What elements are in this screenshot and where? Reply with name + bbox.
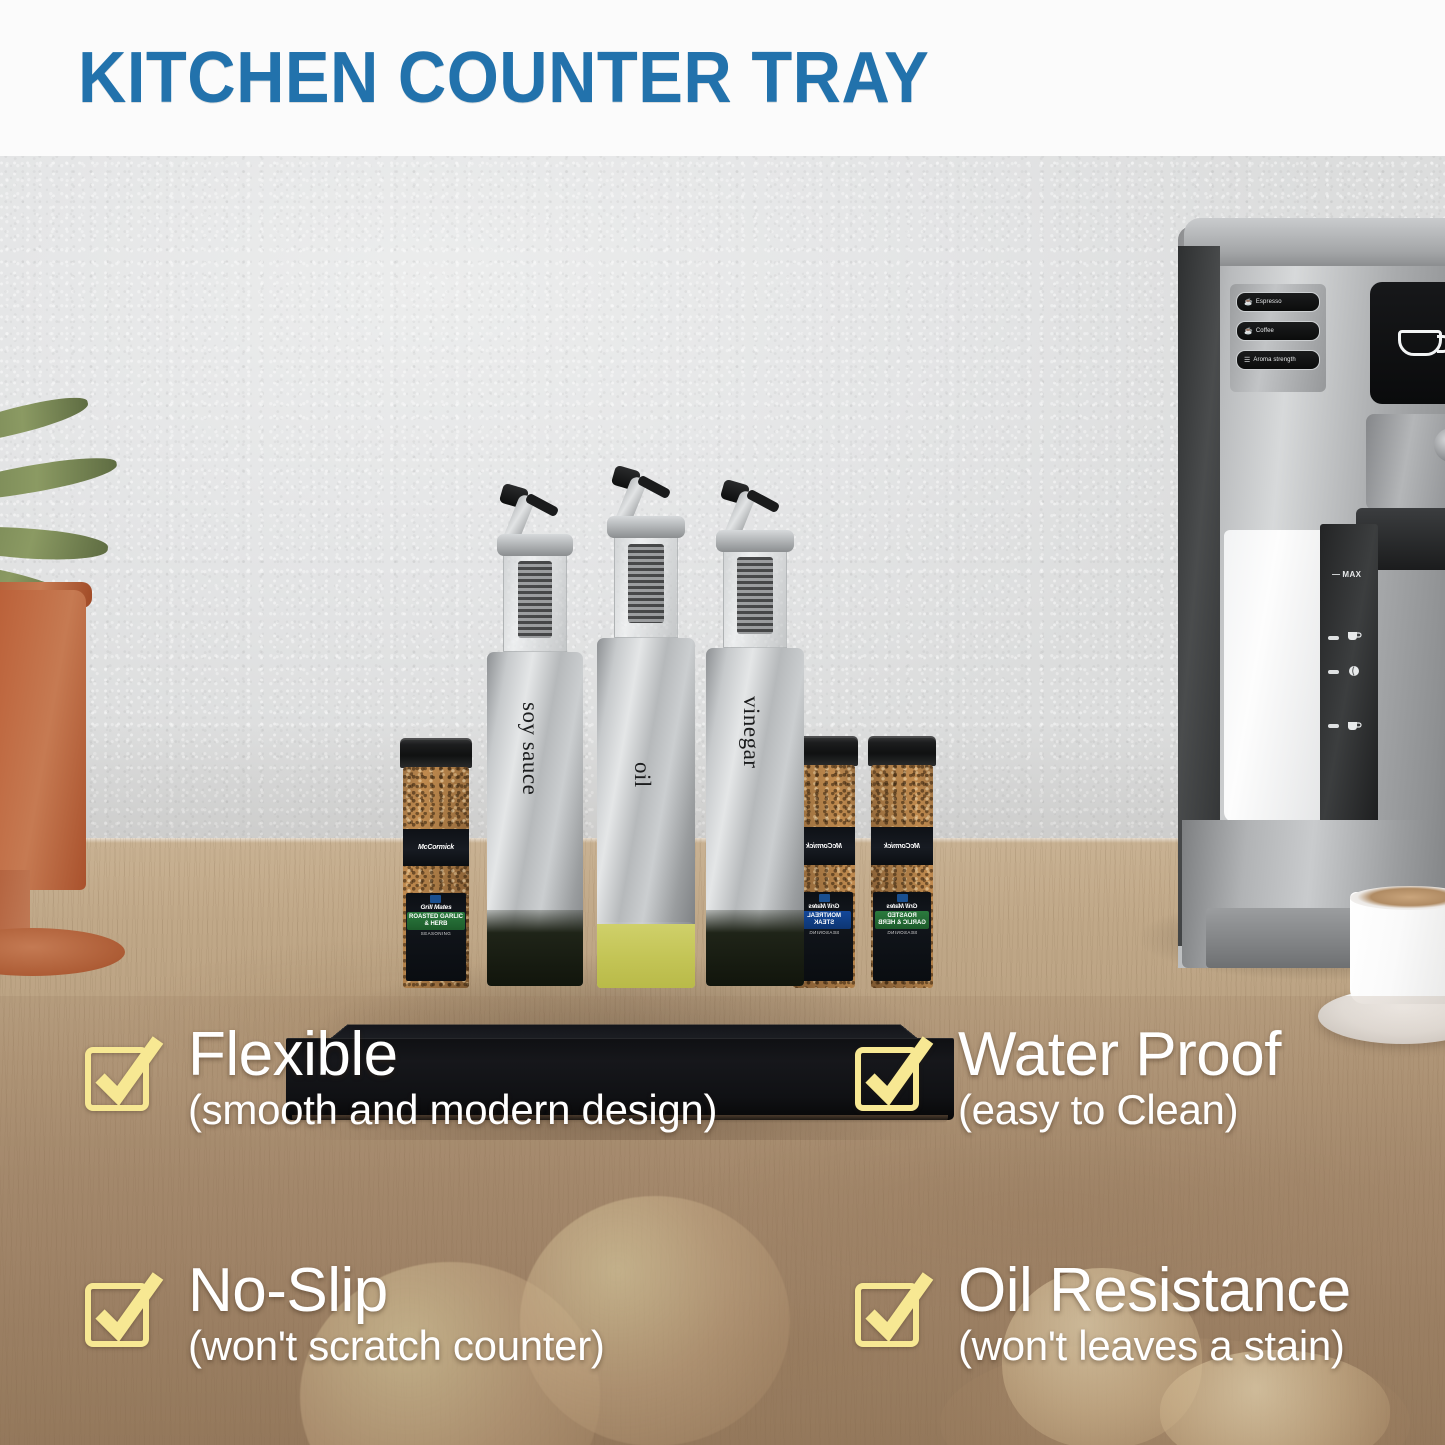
bean-icon (1346, 664, 1362, 678)
coffee-machine: ☕ Espresso ☕ Coffee ☰ Aroma strength (1170, 208, 1445, 968)
plant-pot (0, 590, 86, 890)
jar-label: Grill Mates ROASTED GARLIC & HERB SEASON… (874, 892, 931, 981)
feature-flexible[interactable]: Flexible (smooth and modern design) (82, 1022, 717, 1134)
feature-water-proof[interactable]: Water Proof (easy to Clean) (852, 1022, 1281, 1134)
jar-flavor: ROASTED GARLIC & HERB (407, 912, 464, 930)
water-tank-indicator-strip: MAX (1320, 524, 1378, 828)
bars-icon: ☰ (1244, 357, 1250, 364)
jar-sub-label: SEASONING (421, 931, 451, 936)
coffee-button-label: Coffee (1256, 328, 1274, 334)
bottle-label: soy sauce (517, 702, 543, 795)
jar-product-line: Grill Mates (887, 903, 918, 910)
aroma-strength-button[interactable]: ☰ Aroma strength (1236, 350, 1320, 370)
bottle-oil: oil (597, 468, 695, 988)
jar-sub-label: SEASONING (887, 930, 917, 935)
mccormick-logo-icon (430, 895, 441, 903)
spice-jar-roasted-garlic-herb-right: McCormick Grill Mates ROASTED GARLIC & H… (868, 736, 936, 988)
mccormick-logo-icon (897, 894, 908, 902)
cup-icon (1398, 330, 1442, 356)
feature-subtitle: (smooth and modern design) (188, 1086, 717, 1134)
jar-glass: McCormick Grill Mates ROASTED GARLIC & H… (403, 767, 469, 988)
feature-oil-resistance[interactable]: Oil Resistance (won't leaves a stain) (852, 1258, 1351, 1370)
bottle-contents (706, 910, 804, 986)
mccormick-logo-icon (819, 894, 830, 902)
check-icon (852, 1032, 936, 1116)
feature-subtitle: (won't leaves a stain) (958, 1322, 1351, 1370)
feature-text: Oil Resistance (won't leaves a stain) (958, 1258, 1351, 1370)
bottle-contents (597, 924, 695, 988)
jar-glass: McCormick Grill Mates ROASTED GARLIC & H… (871, 765, 933, 988)
jar-product-line: Grill Mates (809, 903, 840, 910)
jar-cap (400, 738, 472, 768)
feature-subtitle: (easy to Clean) (958, 1086, 1281, 1134)
cup-icon: ☕ (1244, 299, 1253, 306)
bottle-collar (716, 530, 794, 552)
bottle-collar (497, 534, 574, 556)
check-icon (82, 1268, 166, 1352)
jar-label: Grill Mates ROASTED GARLIC & HERB SEASON… (406, 893, 467, 981)
jar-flavor: MONTREAL STEAK (797, 911, 851, 929)
product-marketing-image: KITCHEN COUNTER TRAY ☕ (0, 0, 1445, 1445)
feature-title: Oil Resistance (958, 1258, 1351, 1324)
bottle-label: vinegar (738, 696, 764, 768)
jar-flavor: ROASTED GARLIC & HERB (875, 911, 929, 929)
feature-title: No-Slip (188, 1258, 605, 1324)
feature-title: Water Proof (958, 1022, 1281, 1088)
feature-subtitle: (won't scratch counter) (188, 1322, 605, 1370)
jar-sub-label: SEASONING (809, 930, 839, 935)
check-icon (852, 1268, 936, 1352)
bottle-glass-base (597, 922, 695, 988)
feature-text: Flexible (smooth and modern design) (188, 1022, 717, 1134)
cup-icon (1346, 718, 1362, 732)
machine-display[interactable] (1370, 282, 1445, 404)
bottle-neck (503, 540, 566, 652)
tank-tick (1328, 670, 1339, 674)
page-title: KITCHEN COUNTER TRAY (78, 37, 929, 119)
spice-jar-roasted-garlic-herb-left: McCormick Grill Mates ROASTED GARLIC & H… (400, 738, 472, 988)
check-icon (82, 1032, 166, 1116)
feature-no-slip[interactable]: No-Slip (won't scratch counter) (82, 1258, 605, 1370)
feature-title: Flexible (188, 1022, 717, 1088)
bottle-label: oil (629, 762, 655, 788)
product-scene: ☕ Espresso ☕ Coffee ☰ Aroma strength (0, 150, 1445, 1445)
machine-mid-panel (1366, 414, 1445, 510)
tank-tick (1328, 636, 1339, 640)
machine-button-panel: ☕ Espresso ☕ Coffee ☰ Aroma strength (1230, 284, 1326, 392)
bottle-neck (614, 522, 679, 638)
coffee-button[interactable]: ☕ Coffee (1236, 321, 1320, 341)
bottle-contents (487, 910, 583, 986)
bottle-body: soy sauce (487, 652, 583, 986)
jar-label: Grill Mates MONTREAL STEAK SEASONING (796, 892, 853, 981)
jar-brand-band: McCormick (871, 827, 933, 865)
cup-icon (1346, 628, 1362, 642)
tank-max-label: MAX (1332, 570, 1361, 579)
bottle-body: oil (597, 638, 695, 928)
feature-text: Water Proof (easy to Clean) (958, 1022, 1281, 1134)
tank-tick (1328, 724, 1339, 728)
espresso-button[interactable]: ☕ Espresso (1236, 292, 1320, 312)
bottle-body: vinegar (706, 648, 804, 986)
bottle-neck (723, 536, 788, 648)
machine-top-cover (1184, 218, 1445, 266)
jar-cap (868, 736, 936, 766)
aroma-strength-button-label: Aroma strength (1253, 357, 1295, 363)
espresso-button-label: Espresso (1256, 299, 1282, 305)
feature-text: No-Slip (won't scratch counter) (188, 1258, 605, 1370)
bottle-soy-sauce: soy sauce (487, 486, 583, 986)
jar-brand-band: McCormick (403, 829, 469, 867)
bottle-vinegar: vinegar (706, 482, 804, 986)
bottle-collar (607, 516, 685, 538)
jar-product-line: Grill Mates (420, 904, 451, 911)
cup-icon: ☕ (1244, 328, 1253, 335)
header-band: KITCHEN COUNTER TRAY (0, 0, 1445, 156)
